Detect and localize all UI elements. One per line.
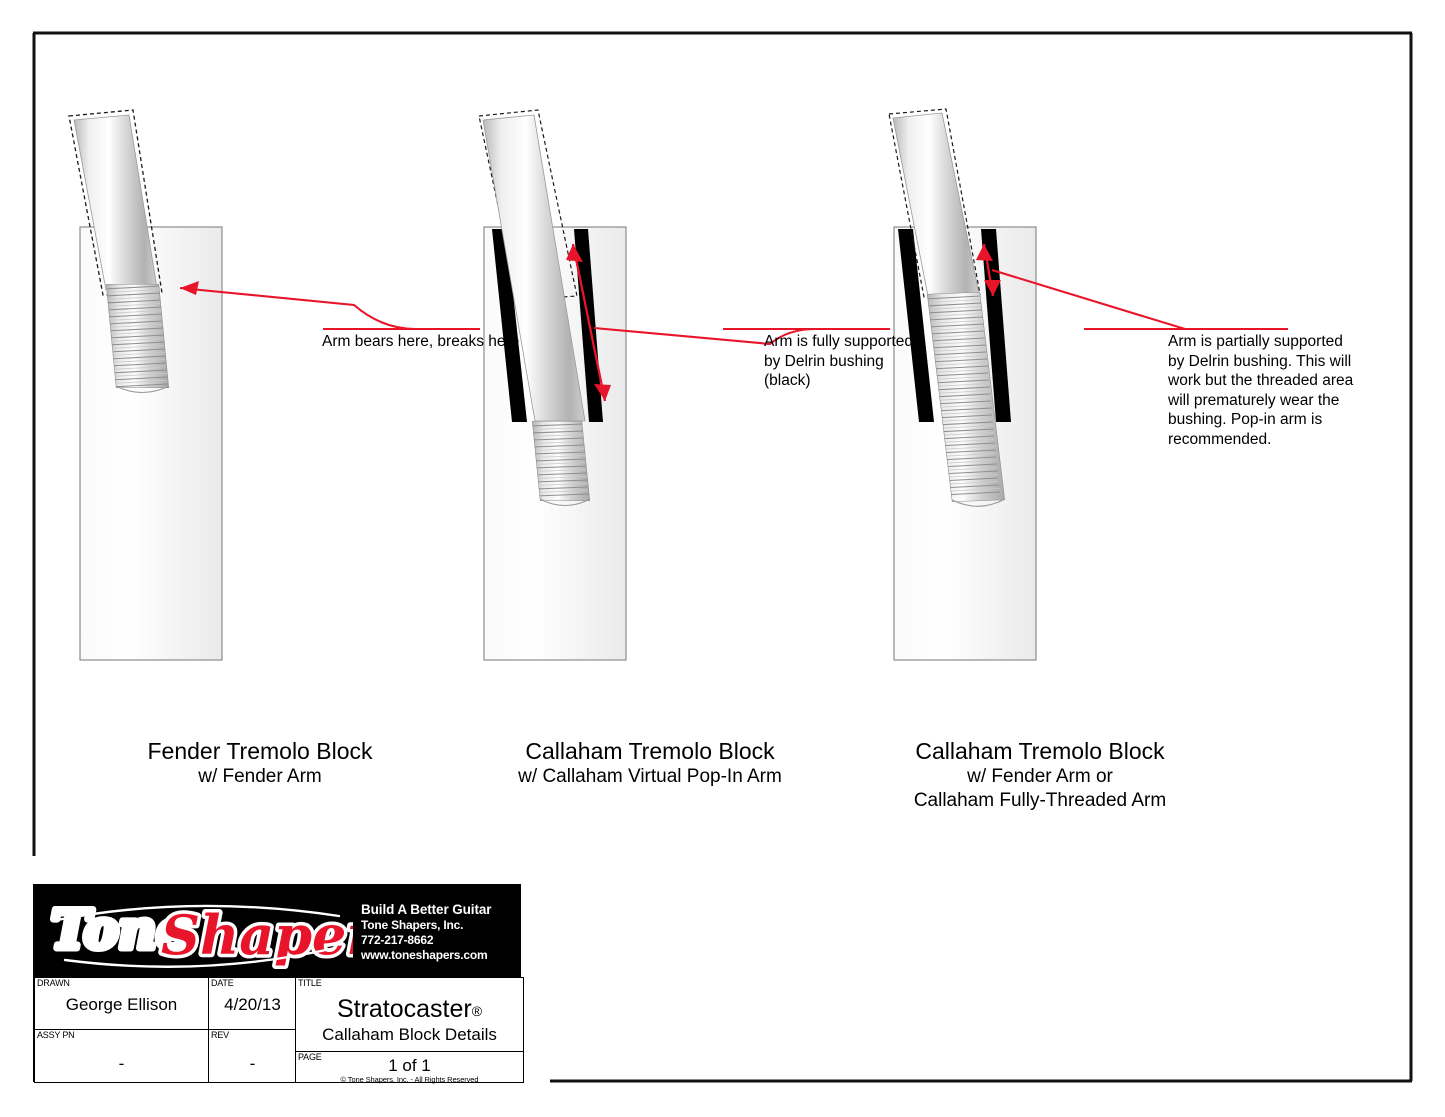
annotation-note-1: Arm bears here, breaks here <box>322 332 562 352</box>
copyright-notice: © Tone Shapers, Inc. - All Rights Reserv… <box>296 1075 523 1084</box>
note3-line-5: bushing. Pop-in arm is <box>1168 410 1363 430</box>
note3-line-1: Arm is partially supported <box>1168 332 1363 352</box>
company-contact-info: Build A Better Guitar Tone Shapers, Inc.… <box>355 901 491 963</box>
caption-subtitle-2: Callaham Fully-Threaded Arm <box>815 789 1265 813</box>
caption-subtitle: w/ Fender Arm or <box>815 765 1265 789</box>
note1-line-1: Arm bears here, breaks here <box>322 332 562 352</box>
toneshaper-logo: Tone Tone Shaper Shaper <box>35 886 355 978</box>
title-block-fields: DRAWN George Ellison DATE 4/20/13 ASSY P… <box>35 978 519 1082</box>
caption-title: Callaham Tremolo Block <box>425 737 875 765</box>
title-block: Tone Tone Shaper Shaper Build A Better G… <box>33 884 521 1082</box>
field-title-label: TITLE <box>298 978 322 989</box>
field-rev-label: REV <box>211 1030 229 1041</box>
contact-company: Tone Shapers, Inc. <box>361 918 491 933</box>
field-title: TITLE Stratocaster® Callaham Block Detai… <box>295 977 524 1052</box>
field-page: PAGE 1 of 1 © Tone Shapers, Inc. - All R… <box>295 1051 524 1083</box>
caption-subtitle: w/ Fender Arm <box>35 765 485 789</box>
field-drawn-value: George Ellison <box>35 995 208 1015</box>
field-date: DATE 4/20/13 <box>208 977 297 1030</box>
field-assy-label: ASSY PN <box>37 1030 74 1041</box>
drawing-title-text: Stratocaster <box>337 995 472 1023</box>
annotation-note-2: Arm is fully supported by Delrin bushing… <box>764 332 964 391</box>
drawing-title: Stratocaster® <box>296 995 523 1025</box>
field-drawn-label: DRAWN <box>37 978 70 989</box>
contact-phone: 772-217-8662 <box>361 933 491 948</box>
annotation-note-3: Arm is partially supported by Delrin bus… <box>1168 332 1363 449</box>
fender-block-drawing <box>60 96 480 696</box>
note3-line-6: recommended. <box>1168 430 1363 450</box>
figure-callaham-popin-block <box>470 96 890 696</box>
caption-title: Callaham Tremolo Block <box>815 737 1265 765</box>
field-drawn: DRAWN George Ellison <box>34 977 209 1030</box>
field-date-value: 4/20/13 <box>209 995 296 1015</box>
registered-mark: ® <box>472 1003 482 1019</box>
note2-line-3: (black) <box>764 371 964 391</box>
page-number: 1 of 1 <box>296 1056 523 1076</box>
field-rev-value: - <box>209 1054 296 1074</box>
caption-title: Fender Tremolo Block <box>35 737 485 765</box>
callaham-popin-drawing <box>470 96 890 696</box>
field-rev: REV - <box>208 1029 297 1083</box>
note2-line-2: by Delrin bushing <box>764 352 964 372</box>
note3-line-2: by Delrin bushing. This will <box>1168 352 1363 372</box>
figure-fender-tremolo-block <box>60 96 480 696</box>
caption-callaham-threaded: Callaham Tremolo Block w/ Fender Arm or … <box>815 737 1265 813</box>
logo-word-shaper: Shaper <box>161 903 353 967</box>
note2-line-1: Arm is fully supported <box>764 332 964 352</box>
caption-fender-block: Fender Tremolo Block w/ Fender Arm <box>35 737 485 789</box>
drawing-subtitle: Callaham Block Details <box>296 1025 523 1045</box>
arm-threaded-section <box>530 421 590 501</box>
logo-graphic: Tone Tone Shaper Shaper <box>43 890 353 974</box>
contact-website: www.toneshapers.com <box>361 948 491 963</box>
field-assy-pn: ASSY PN - <box>34 1029 209 1083</box>
field-assy-value: - <box>35 1054 208 1074</box>
leader-line-note1 <box>180 281 480 329</box>
caption-subtitle: w/ Callaham Virtual Pop-In Arm <box>425 765 875 789</box>
field-date-label: DATE <box>211 978 234 989</box>
note3-line-3: work but the threaded area <box>1168 371 1363 391</box>
contact-tagline: Build A Better Guitar <box>361 901 491 918</box>
title-block-header: Tone Tone Shaper Shaper Build A Better G… <box>35 886 519 978</box>
note3-line-4: will prematurely wear the <box>1168 391 1363 411</box>
caption-callaham-popin: Callaham Tremolo Block w/ Callaham Virtu… <box>425 737 875 789</box>
